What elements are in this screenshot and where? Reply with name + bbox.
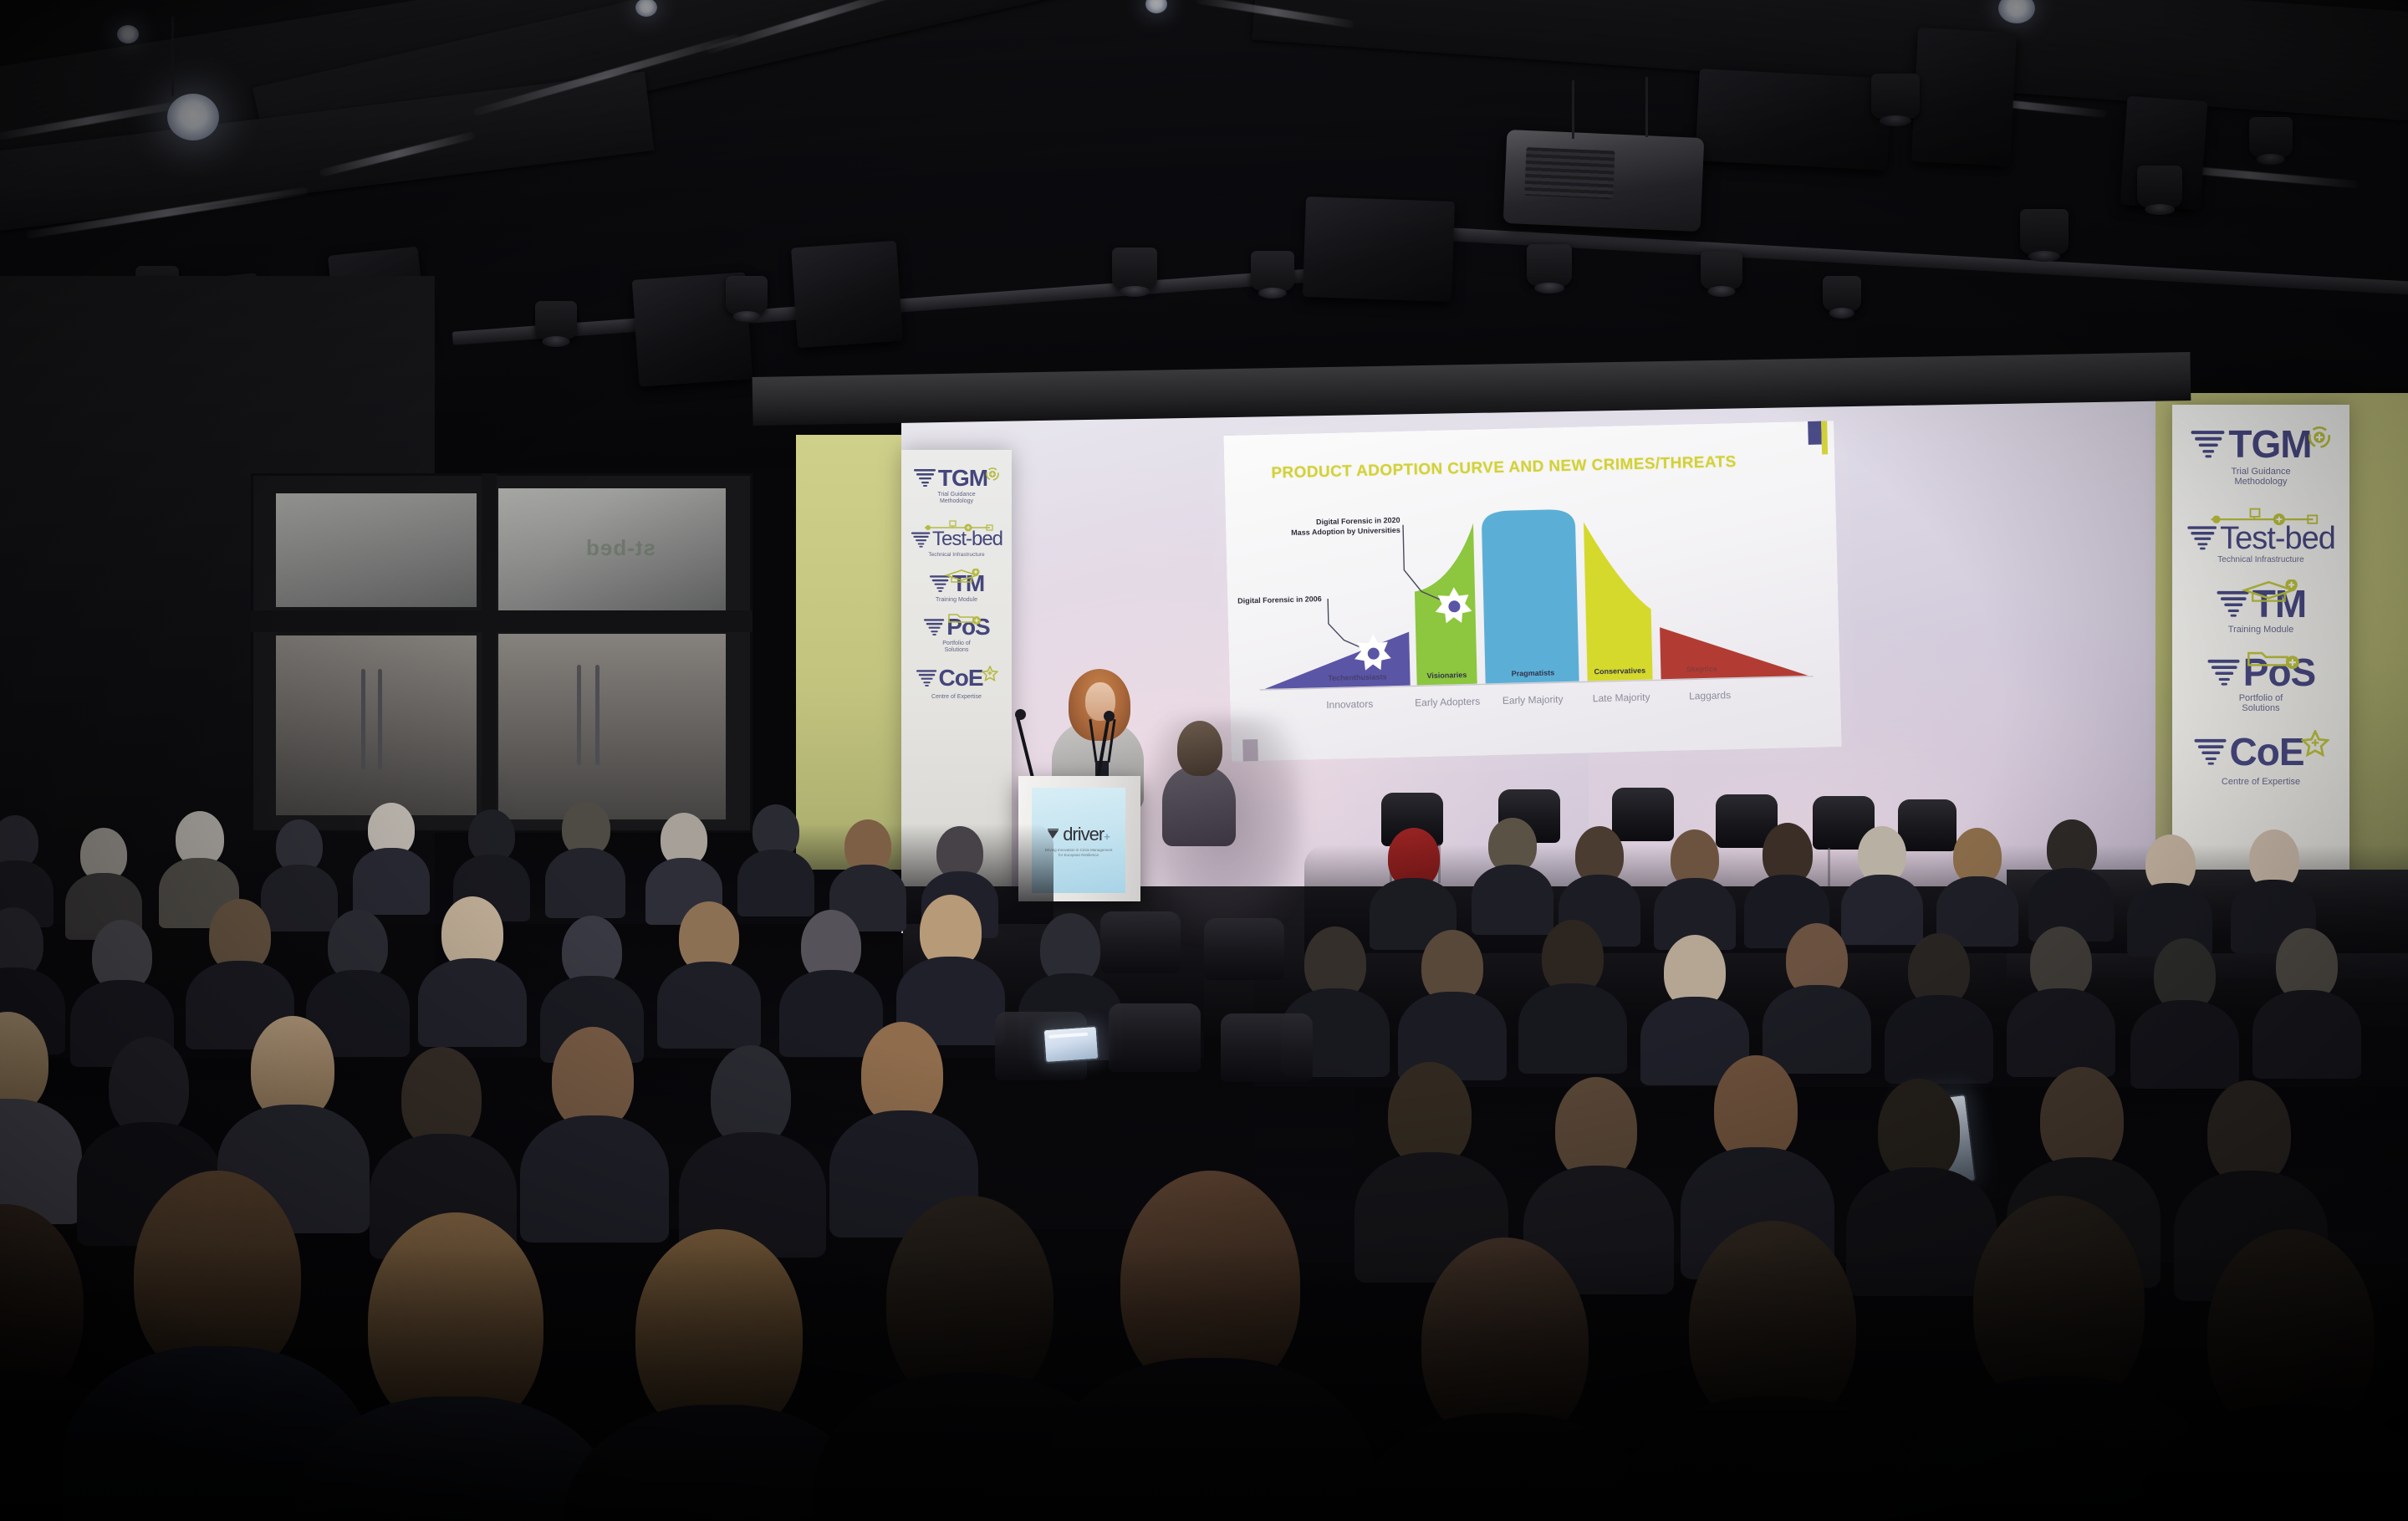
pos-sub-line1: Portfolio of bbox=[2239, 693, 2283, 703]
audience-shoulders bbox=[737, 850, 814, 916]
tornado-mark-icon bbox=[916, 668, 939, 689]
coe-sub-line1: Centre of Expertise bbox=[2222, 777, 2300, 787]
audience-shoulders bbox=[418, 958, 527, 1047]
conference-photo: st-bed PRODUCT ADOPTION CURVE AND NEW CR… bbox=[0, 0, 2408, 1521]
projector-mount-rod bbox=[1645, 77, 1648, 137]
testbed-sub-line1: Technical Infrastructure bbox=[928, 552, 984, 558]
speaker-box bbox=[1303, 197, 1455, 302]
glass-pane-upper bbox=[276, 493, 477, 607]
banner-logo-tgm-subtitle: Trial Guidance Methodology bbox=[937, 492, 975, 505]
glass-pane-lower bbox=[276, 635, 477, 815]
banner-logo-tm-subtitle: Training Module bbox=[936, 597, 977, 604]
audience-chair[interactable] bbox=[1100, 911, 1181, 973]
slide-corner-mark-top-right bbox=[1808, 421, 1828, 455]
banner-logo-tm: TM Training Module bbox=[901, 573, 1012, 603]
driver-plus-mark: + bbox=[1104, 830, 1110, 843]
tornado-mark-icon bbox=[2186, 523, 2220, 554]
audience-shoulders bbox=[1885, 995, 1993, 1084]
tornado-mark-icon bbox=[913, 467, 938, 489]
graduation-cap-plus-icon bbox=[2239, 579, 2301, 606]
audience-shoulders bbox=[1846, 1167, 1997, 1296]
projector-mount-rod bbox=[1572, 80, 1574, 139]
folder-plus-icon bbox=[946, 610, 982, 627]
banner-logo-tgm: TGM Trial Guidance Methodology bbox=[901, 467, 1012, 505]
tm-sub-line1: Training Module bbox=[2228, 625, 2293, 635]
microphone-head bbox=[1015, 709, 1026, 720]
audience-head bbox=[1714, 1055, 1798, 1162]
audience-chair[interactable] bbox=[1204, 918, 1284, 980]
door-handle bbox=[577, 665, 581, 765]
banner-logo-tgm-abbrev: TGM bbox=[938, 467, 987, 490]
star-plus-icon bbox=[2301, 730, 2329, 758]
segment-early-majority bbox=[1482, 509, 1579, 684]
category-label-laggards: Laggards bbox=[1668, 689, 1752, 703]
banner-logo-coe-subtitle: Centre of Expertise bbox=[931, 694, 982, 701]
coe-sub-line1: Centre of Expertise bbox=[931, 694, 982, 701]
window-mullion bbox=[251, 610, 752, 632]
banner-logo-testbed: Test-bed Technical Infrastructure bbox=[901, 520, 1012, 558]
stage-spotlight bbox=[535, 301, 577, 339]
stage-spotlight bbox=[1527, 244, 1572, 286]
audience-shoulders bbox=[353, 848, 430, 915]
banner-logo-tgm-subtitle: Trial Guidance Methodology bbox=[2231, 467, 2290, 487]
banner-logo-coe-abbrev: CoE bbox=[939, 667, 983, 690]
projection-screen: PRODUCT ADOPTION CURVE AND NEW CRIMES/TH… bbox=[1223, 421, 1841, 762]
tornado-mark-icon bbox=[911, 530, 932, 550]
stage-spotlight bbox=[1823, 276, 1861, 311]
audience-shoulders bbox=[2130, 1000, 2239, 1089]
banner-logo-tm-subtitle: Training Module bbox=[2228, 625, 2293, 635]
pos-sub-line2: Solutions bbox=[2239, 703, 2283, 713]
banner-logo-coe: CoE Centre of Expertise bbox=[901, 666, 1012, 701]
pos-sub-line2: Solutions bbox=[942, 647, 970, 654]
tgm-sub-line1: Trial Guidance bbox=[937, 492, 975, 498]
tornado-mark-icon bbox=[2206, 657, 2243, 689]
stage-spotlight bbox=[2137, 166, 2182, 207]
banner-logo-testbed: Test-bed Technical Infrastructure bbox=[2172, 508, 2349, 564]
banner-logo-pos: PoS Portfolio of Solutions bbox=[901, 616, 1012, 653]
banner-logo-coe: CoE Centre of Expertise bbox=[2172, 730, 2349, 787]
audience-shoulders bbox=[1043, 1358, 1376, 1521]
stage-seated-person bbox=[1162, 719, 1236, 845]
stage-spotlight bbox=[2249, 117, 2293, 157]
stage-spotlight bbox=[2020, 209, 2069, 254]
annotation-2006-line1: Digital Forensic in 2006 bbox=[1237, 594, 1322, 606]
banner-logo-testbed-subtitle: Technical Infrastructure bbox=[928, 552, 984, 558]
banner-logo-testbed-abbrev: Test-bed bbox=[932, 530, 1002, 549]
tornado-mark-icon bbox=[923, 617, 946, 638]
window-mullion bbox=[482, 473, 497, 833]
category-early-adopters-text: Early Adopters bbox=[1415, 696, 1480, 709]
star-plus-icon bbox=[982, 666, 998, 682]
audience-shoulders bbox=[1763, 985, 1871, 1074]
driver-tagline: Driving Innovation in Crisis Management … bbox=[1045, 848, 1113, 857]
slide-title: PRODUCT ADOPTION CURVE AND NEW CRIMES/TH… bbox=[1271, 453, 1737, 483]
audience-shoulders bbox=[545, 848, 625, 918]
microphone-head bbox=[1104, 711, 1115, 722]
door-handle bbox=[361, 669, 365, 769]
audience-tablet-screen[interactable] bbox=[1043, 1025, 1100, 1064]
category-laggards-text: Laggards bbox=[1689, 689, 1731, 702]
category-label-late-majority: Late Majority bbox=[1581, 691, 1661, 705]
segment-late-majority bbox=[1584, 521, 1653, 681]
driver-tagline-line2: for European Resilience bbox=[1045, 853, 1113, 858]
ceiling-lamp bbox=[117, 25, 139, 43]
stage-spotlight bbox=[1112, 248, 1157, 289]
stage-chair[interactable] bbox=[1898, 799, 1956, 851]
annotation-2006: Digital Forensic in 2006 bbox=[1237, 594, 1322, 606]
banner-logo-pos-subtitle: Portfolio of Solutions bbox=[942, 641, 970, 654]
testbed-sub-line1: Technical Infrastructure bbox=[2217, 555, 2303, 564]
audience-shoulders bbox=[2252, 990, 2361, 1079]
banner-logo-coe-subtitle: Centre of Expertise bbox=[2222, 777, 2300, 787]
graduation-cap-plus-icon bbox=[943, 569, 982, 585]
banner-logo-testbed-subtitle: Technical Infrastructure bbox=[2217, 555, 2303, 564]
stage-spotlight bbox=[1701, 251, 1742, 289]
door-handle bbox=[595, 665, 599, 765]
audience-shoulders bbox=[657, 962, 761, 1049]
banner-logo-testbed-abbrev: Test-bed bbox=[2220, 523, 2335, 554]
audience-shoulders bbox=[520, 1115, 669, 1243]
wall-panel-olive-left bbox=[796, 435, 910, 870]
driver-wordmark: driver bbox=[1063, 824, 1104, 845]
banner-logo-tgm: TGM Trial Guidance Methodology bbox=[2172, 425, 2349, 487]
stage-person-torso bbox=[1162, 766, 1236, 846]
pos-sub-line1: Portfolio of bbox=[942, 641, 970, 647]
glass-pane-lower bbox=[498, 634, 726, 819]
category-label-early-majority: Early Majority bbox=[1491, 693, 1574, 707]
category-early-majority-text: Early Majority bbox=[1502, 693, 1564, 707]
ceiling-lamp bbox=[167, 94, 219, 140]
stage-spotlight bbox=[726, 276, 768, 314]
folder-plus-icon bbox=[2243, 646, 2302, 673]
audience-shoulders bbox=[1841, 875, 1923, 945]
driver-plus-logo: driver + bbox=[1047, 824, 1110, 845]
projector bbox=[1503, 130, 1705, 232]
hanging-rod bbox=[171, 17, 174, 96]
slide-surface: PRODUCT ADOPTION CURVE AND NEW CRIMES/TH… bbox=[1223, 421, 1841, 762]
cycle-plus-icon bbox=[2307, 425, 2332, 450]
annotation-2020: Digital Forensic in 2020 Mass Adoption b… bbox=[1291, 515, 1400, 538]
banner-reflection-text: st-bed bbox=[585, 535, 656, 561]
audience-shoulders bbox=[1472, 865, 1553, 935]
speaker-box bbox=[1911, 28, 2017, 166]
category-innovators-text: Innovators bbox=[1326, 698, 1373, 711]
projector-vent bbox=[1524, 147, 1615, 200]
stage-chair[interactable] bbox=[1612, 788, 1674, 841]
cycle-plus-icon bbox=[985, 467, 1000, 482]
audience-shoulders bbox=[261, 865, 338, 931]
banner-logo-pos-subtitle: Portfolio of Solutions bbox=[2239, 693, 2283, 714]
banner-logo-coe-abbrev: CoE bbox=[2230, 734, 2304, 771]
tornado-mark-icon bbox=[2193, 737, 2230, 768]
banner-logo-pos: PoS Portfolio of Solutions bbox=[2172, 655, 2349, 713]
category-late-majority-text: Late Majority bbox=[1593, 692, 1650, 705]
speaker-box bbox=[791, 241, 903, 348]
stage-spotlight bbox=[1251, 251, 1294, 291]
tgm-sub-line1: Trial Guidance bbox=[2231, 467, 2290, 477]
banner-logo-tgm-abbrev: TGM bbox=[2228, 426, 2311, 463]
audience-shoulders bbox=[1518, 983, 1627, 1074]
door-handle bbox=[378, 669, 382, 769]
audience-shoulders bbox=[1349, 1413, 1661, 1521]
stage-person-hair bbox=[1177, 721, 1222, 776]
tm-sub-line1: Training Module bbox=[936, 597, 977, 604]
speaker-box bbox=[1695, 69, 1891, 171]
tgm-sub-line2: Methodology bbox=[2231, 477, 2290, 487]
category-label-early-adopters: Early Adopters bbox=[1406, 695, 1489, 709]
stage-spotlight bbox=[1871, 74, 1920, 119]
driver-tagline-line1: Driving Innovation in Crisis Management bbox=[1045, 848, 1113, 853]
adoption-curve-chart: Digital Forensic in 2020 Mass Adoption b… bbox=[1242, 498, 1824, 738]
audience-shoulders bbox=[1617, 1396, 1928, 1521]
banner-logo-tm: TM Training Module bbox=[2172, 586, 2349, 635]
audience-shoulders bbox=[2007, 988, 2115, 1077]
tgm-sub-line2: Methodology bbox=[937, 498, 975, 505]
tornado-mark-icon bbox=[2190, 428, 2228, 462]
